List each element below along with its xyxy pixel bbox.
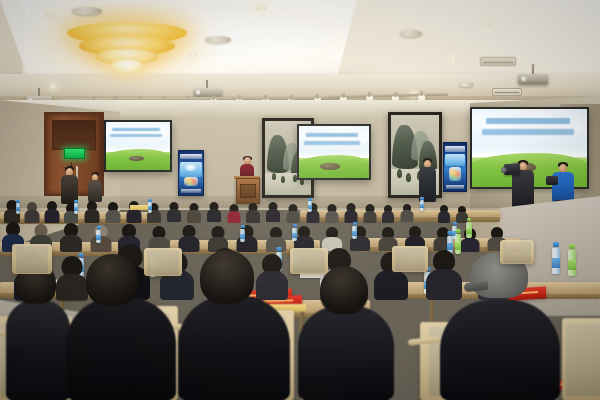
downlight-icon: [482, 21, 491, 27]
bottle-cap: [97, 226, 101, 229]
painting-tree: [397, 169, 402, 178]
bottle-label: [466, 228, 472, 234]
person-torso: [374, 270, 408, 300]
conference-hall-photo: [0, 0, 600, 400]
chair-back[interactable]: [392, 246, 428, 272]
chair-back[interactable]: [500, 240, 534, 264]
slide-text-line: [482, 129, 574, 135]
camera-lens-icon: [501, 167, 507, 173]
bottle-cap: [148, 199, 152, 202]
downlight-icon: [449, 57, 457, 62]
ceiling-disc-icon: [459, 82, 473, 87]
foreground-person-head: [200, 250, 254, 304]
bottle-label: [148, 206, 152, 210]
chair-cushion: [566, 324, 600, 396]
yellow-folder: [130, 205, 148, 210]
ceiling-projector: [518, 74, 548, 84]
video-camera-icon: [546, 176, 558, 185]
projector-lens-icon: [196, 90, 201, 95]
foreground-person-jacket: [440, 300, 560, 400]
chandelier: [64, 18, 190, 80]
ceiling-projector: [194, 88, 222, 97]
water-bottle: [308, 201, 312, 212]
projector-mount: [532, 64, 534, 74]
banner-logo-icon: [184, 177, 197, 187]
person-torso: [56, 274, 88, 301]
projector-mount: [38, 88, 40, 96]
ceiling-disc-icon: [400, 30, 422, 37]
chair-cushion: [503, 242, 531, 263]
door-top-panel: [52, 120, 96, 150]
water-bottle: [16, 203, 20, 214]
bottle-label: [308, 205, 312, 209]
rollup-banner-right: [443, 142, 467, 192]
foreground-person-jacket: [178, 296, 290, 400]
chair-cushion: [147, 250, 178, 275]
bottle-cap: [456, 229, 461, 233]
ceiling-disc-icon: [72, 7, 102, 15]
water-bottle-green: [466, 222, 472, 238]
downlight-icon: [46, 13, 54, 18]
audience-member: [256, 254, 288, 298]
bottle-cap: [353, 222, 357, 225]
bottle-cap: [74, 200, 78, 203]
foreground-person-head: [320, 266, 368, 314]
bottle-cap: [420, 197, 424, 200]
foreground-person-jacket: [66, 298, 176, 400]
water-bottle: [148, 202, 152, 213]
projector-mount: [206, 80, 208, 88]
banner-header-bar: [180, 154, 201, 160]
slide-text-line: [486, 118, 570, 124]
banner-logo-icon: [449, 167, 461, 181]
painting-tree: [281, 176, 285, 183]
exit-sign-icon: [64, 148, 85, 159]
downlight-icon: [49, 84, 57, 89]
audience-member: [426, 250, 462, 298]
slide-text-line: [304, 141, 360, 145]
air-vent-icon: [492, 88, 522, 96]
bottle-label: [74, 207, 78, 211]
slide-text-line: [112, 128, 160, 131]
foreground-person-jacket: [298, 306, 394, 400]
bottle-cap: [308, 198, 312, 201]
bottle-cap: [16, 200, 20, 203]
downlight-icon: [256, 6, 266, 11]
slide-text-line: [110, 134, 162, 137]
ceiling-disc-icon: [205, 36, 231, 43]
bottle-label: [352, 231, 357, 236]
water-bottle: [74, 203, 78, 214]
projector-lens-icon: [521, 76, 527, 82]
bottle-cap: [467, 218, 471, 221]
bottle-label: [16, 207, 20, 211]
chair-cushion: [16, 246, 49, 272]
bottle-cap: [241, 225, 245, 228]
person-torso: [426, 269, 462, 300]
painting-tree: [272, 173, 276, 180]
banner-sky-image: [445, 154, 465, 166]
foreground-person-jacket: [6, 300, 70, 400]
chair-back[interactable]: [144, 248, 182, 276]
chandelier-tier-4: [110, 60, 144, 73]
chair-back[interactable]: [12, 244, 52, 274]
slide-text-line: [306, 133, 358, 137]
audience-chair[interactable]: [562, 318, 600, 400]
bottle-label: [420, 204, 424, 208]
bottle-cap: [293, 224, 297, 227]
bottle-cap: [448, 231, 453, 235]
audience-member: [56, 256, 88, 298]
painting-tree: [406, 173, 411, 182]
chair-back[interactable]: [290, 248, 328, 274]
chair-cushion: [293, 250, 324, 273]
banner-footer-bar: [446, 185, 464, 189]
air-vent-icon: [480, 57, 516, 66]
banner-header-bar: [445, 146, 464, 152]
person-torso: [256, 271, 288, 300]
bottle-cap: [453, 222, 457, 225]
foreground-person-head: [86, 254, 138, 306]
rollup-banner-left: [178, 150, 204, 196]
downlight-icon: [189, 52, 197, 57]
water-bottle: [420, 200, 424, 211]
chair-cushion: [395, 248, 425, 271]
